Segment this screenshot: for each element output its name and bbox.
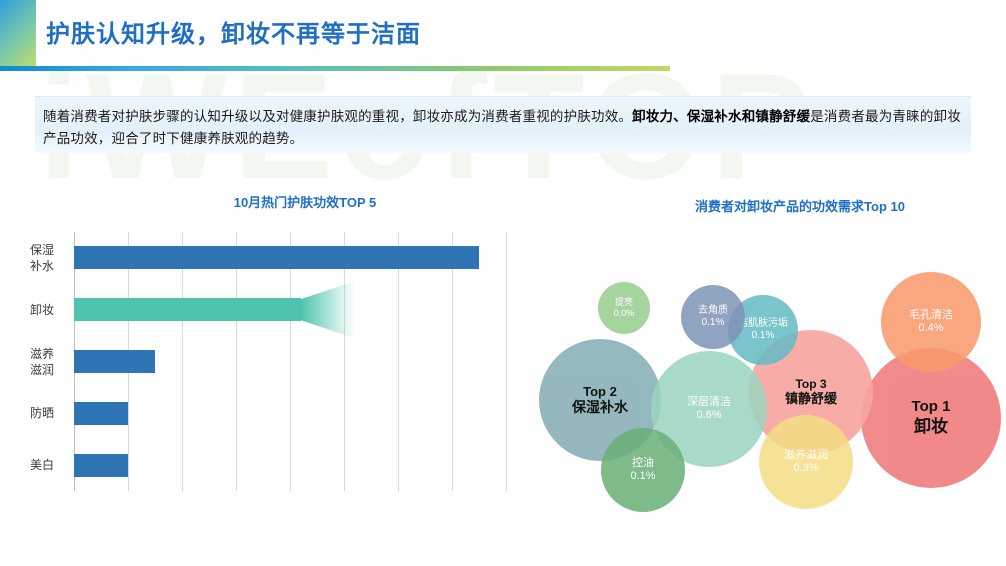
bar-chart-bar: [74, 298, 301, 321]
bubble-rank-label: Top 2: [583, 384, 617, 400]
bubble-value-label: 0.0%: [614, 308, 635, 319]
bubble-value-label: 0.1%: [630, 470, 655, 483]
bubble-去角质: 去角质0.1%: [681, 285, 745, 349]
bar-chart-category-label: 滋养 滋润: [30, 346, 74, 378]
bubble-chart-plot-area: Top 2保湿补水Top 1卸妆Top 3镇静舒缓深层清洁0.6%滋养滋润0.3…: [506, 222, 1006, 522]
bar-chart-category-label: 美白: [30, 457, 74, 473]
bar-chart-bar: [74, 402, 128, 425]
bubble-name-label: 镇静舒缓: [785, 391, 837, 407]
corner-gradient-decoration: [0, 0, 36, 68]
bar-chart-plot-area: [74, 232, 506, 491]
bubble-滋养滋润: 滋养滋润0.3%: [759, 415, 853, 509]
bar-chart-category-label: 卸妆: [30, 302, 74, 318]
bubble-毛孔清洁: 毛孔清洁0.4%: [881, 272, 981, 372]
bar-chart-title: 10月热门护肤功效TOP 5: [190, 192, 420, 211]
bar-chart-category-label: 防晒: [30, 405, 74, 421]
bubble-提亮: 提亮0.0%: [598, 282, 650, 334]
bubble-name-label: 保湿补水: [572, 399, 628, 416]
bar-chart-funnel-highlight: [301, 281, 356, 339]
bubble-value-label: 0.6%: [696, 409, 721, 422]
bubble-value-label: 0.1%: [752, 330, 775, 342]
bubble-chart-title: 消费者对卸妆产品的功效需求Top 10: [600, 196, 1000, 215]
bar-chart-category-label: 保湿 补水: [30, 242, 74, 274]
bubble-value-label: 0.4%: [918, 322, 943, 335]
bubble-name-label: 提亮: [615, 297, 633, 308]
intro-panel: 随着消费者对护肤步骤的认知升级以及对健康护肤观的重视，卸妆亦成为消费者重视的护肤…: [35, 96, 971, 153]
bubble-name-label: 滋养滋润: [784, 449, 828, 462]
bubble-控油: 控油0.1%: [601, 428, 685, 512]
bar-chart-bar: [74, 246, 479, 269]
bubble-value-label: 0.3%: [793, 462, 818, 475]
bar-chart-gridline: [290, 232, 291, 491]
bubble-name-label: 洁肌肤污垢: [738, 318, 788, 330]
header-divider-rule: [0, 66, 670, 71]
page-title: 护肤认知升级，卸妆不再等于洁面: [46, 14, 421, 49]
bubble-name-label: 去角质: [698, 305, 728, 317]
bubble-rank-label: Top 1: [912, 398, 951, 416]
bubble-name-label: 卸妆: [914, 417, 948, 438]
bar-chart-gridline: [182, 232, 183, 491]
bar-chart-bar: [74, 350, 155, 373]
bar-chart-gridline: [236, 232, 237, 491]
bubble-value-label: 0.1%: [702, 317, 725, 329]
bubble-name-label: 深层清洁: [687, 396, 731, 409]
bar-chart-gridline: [344, 232, 345, 491]
slide-canvas: iWEofTOP 护肤认知升级，卸妆不再等于洁面 随着消费者对护肤步骤的认知升级…: [0, 0, 1006, 566]
intro-text-part1: 随着消费者对护肤步骤的认知升级以及对健康护肤观的重视，卸妆亦成为消费者重视的护肤…: [43, 109, 632, 124]
bubble-rank-label: Top 3: [795, 377, 826, 392]
bar-chart-gridline: [398, 232, 399, 491]
bar-chart-gridline: [452, 232, 453, 491]
bar-chart-bar: [74, 454, 128, 477]
intro-text-bold: 卸妆力、保湿补水和镇静舒缓: [632, 109, 810, 124]
bubble-name-label: 毛孔清洁: [909, 309, 953, 322]
bubble-name-label: 控油: [632, 457, 654, 470]
